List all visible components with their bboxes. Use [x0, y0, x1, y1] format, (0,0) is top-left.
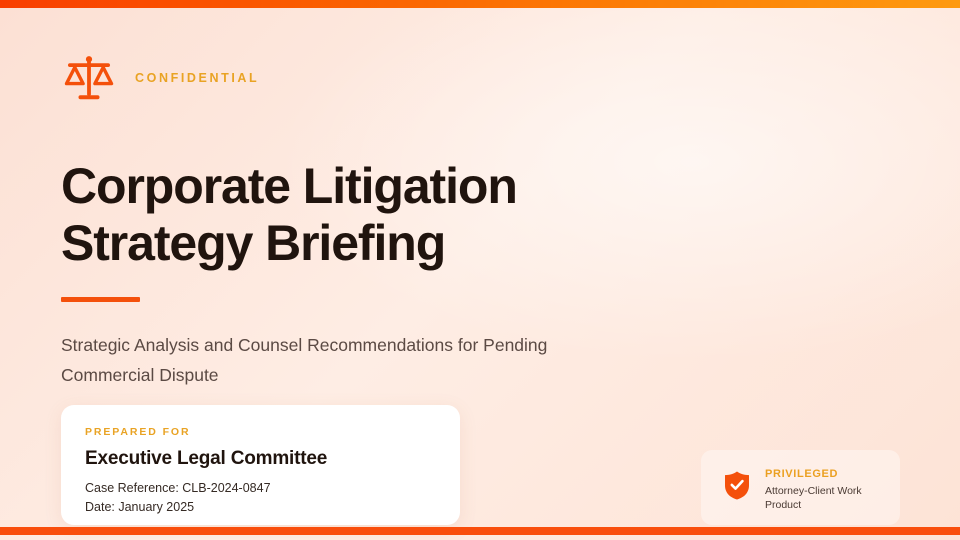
privileged-badge-text: PRIVILEGED Attorney-Client Work Product	[765, 468, 873, 512]
prepared-for-label: PREPARED FOR	[85, 426, 436, 438]
top-accent-bar	[0, 0, 960, 8]
briefing-date: Date: January 2025	[85, 498, 436, 517]
privileged-subtitle: Attorney-Client Work Product	[765, 484, 873, 512]
privileged-title: PRIVILEGED	[765, 468, 873, 480]
page-title-line-2: Strategy Briefing	[61, 215, 701, 272]
case-reference: Case Reference: CLB-2024-0847	[85, 479, 436, 498]
shield-check-icon	[722, 468, 752, 501]
recipient-name: Executive Legal Committee	[85, 448, 436, 470]
prepared-for-card: PREPARED FOR Executive Legal Committee C…	[61, 405, 460, 525]
confidential-label: CONFIDENTIAL	[135, 71, 259, 85]
page-title: Corporate Litigation Strategy Briefing	[61, 158, 701, 272]
bottom-accent-bar	[0, 527, 960, 535]
title-slide: CONFIDENTIAL Corporate Litigation Strate…	[0, 0, 960, 540]
page-title-line-1: Corporate Litigation	[61, 158, 701, 215]
scales-of-justice-icon	[61, 50, 117, 106]
privileged-badge: PRIVILEGED Attorney-Client Work Product	[722, 468, 873, 512]
title-divider	[61, 297, 140, 302]
page-subtitle: Strategic Analysis and Counsel Recommend…	[61, 330, 621, 390]
slide-header: CONFIDENTIAL	[61, 50, 259, 106]
